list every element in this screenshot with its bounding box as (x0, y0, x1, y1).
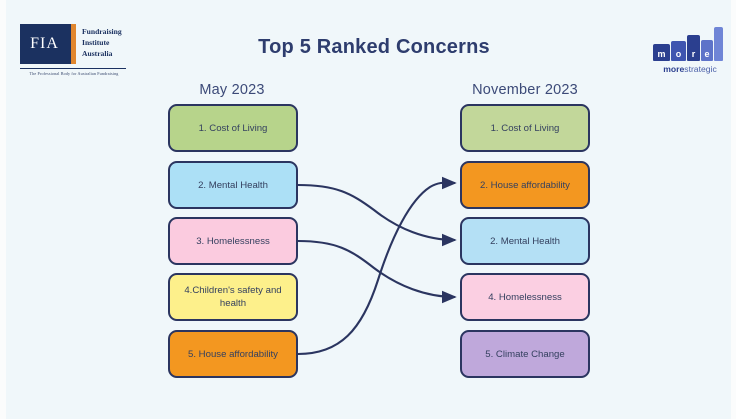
arrow-house-affordability (298, 183, 455, 354)
page-title: Top 5 Ranked Concerns (6, 36, 736, 59)
concern-label: 1. Cost of Living (491, 122, 560, 135)
concern-label: 2. Mental Health (198, 179, 268, 192)
fia-logo-divider (20, 68, 126, 69)
concern-box-november-5[interactable]: 5. Climate Change (460, 330, 590, 378)
arrow-homelessness (298, 241, 455, 297)
concern-box-may-5[interactable]: 5. House affordability (168, 330, 298, 378)
wordmark-more: more (663, 64, 684, 74)
concern-label: 1. Cost of Living (199, 122, 268, 135)
concern-label: 4.Children's safety and health (176, 284, 290, 310)
slide-canvas: FIA Fundraising Institute Australia The … (0, 0, 736, 419)
concern-box-november-2[interactable]: 2. House affordability (460, 161, 590, 209)
arrow-mental-health (298, 185, 455, 240)
concern-label: 5. House affordability (188, 348, 278, 361)
concern-box-november-1[interactable]: 1. Cost of Living (460, 104, 590, 152)
concern-label: 5. Climate Change (485, 348, 564, 361)
wordmark-strategic: strategic (684, 64, 716, 74)
concern-label: 2. House affordability (480, 179, 570, 192)
concern-label: 4. Homelessness (488, 291, 562, 304)
concern-label: 3. Homelessness (196, 235, 270, 248)
concern-box-may-2[interactable]: 2. Mental Health (168, 161, 298, 209)
concern-box-may-3[interactable]: 3. Homelessness (168, 217, 298, 265)
fia-logo-tagline: The Professional Body for Australian Fun… (20, 71, 128, 76)
column-heading-november-2023: November 2023 (435, 82, 615, 98)
concern-box-november-3[interactable]: 2. Mental Health (460, 217, 590, 265)
concern-label: 2. Mental Health (490, 235, 560, 248)
concern-box-may-1[interactable]: 1. Cost of Living (168, 104, 298, 152)
concern-box-november-4[interactable]: 4. Homelessness (460, 273, 590, 321)
column-heading-may-2023: May 2023 (142, 82, 322, 98)
more-strategic-wordmark: morestrategic (651, 64, 729, 75)
concern-box-may-4[interactable]: 4.Children's safety and health (168, 273, 298, 321)
